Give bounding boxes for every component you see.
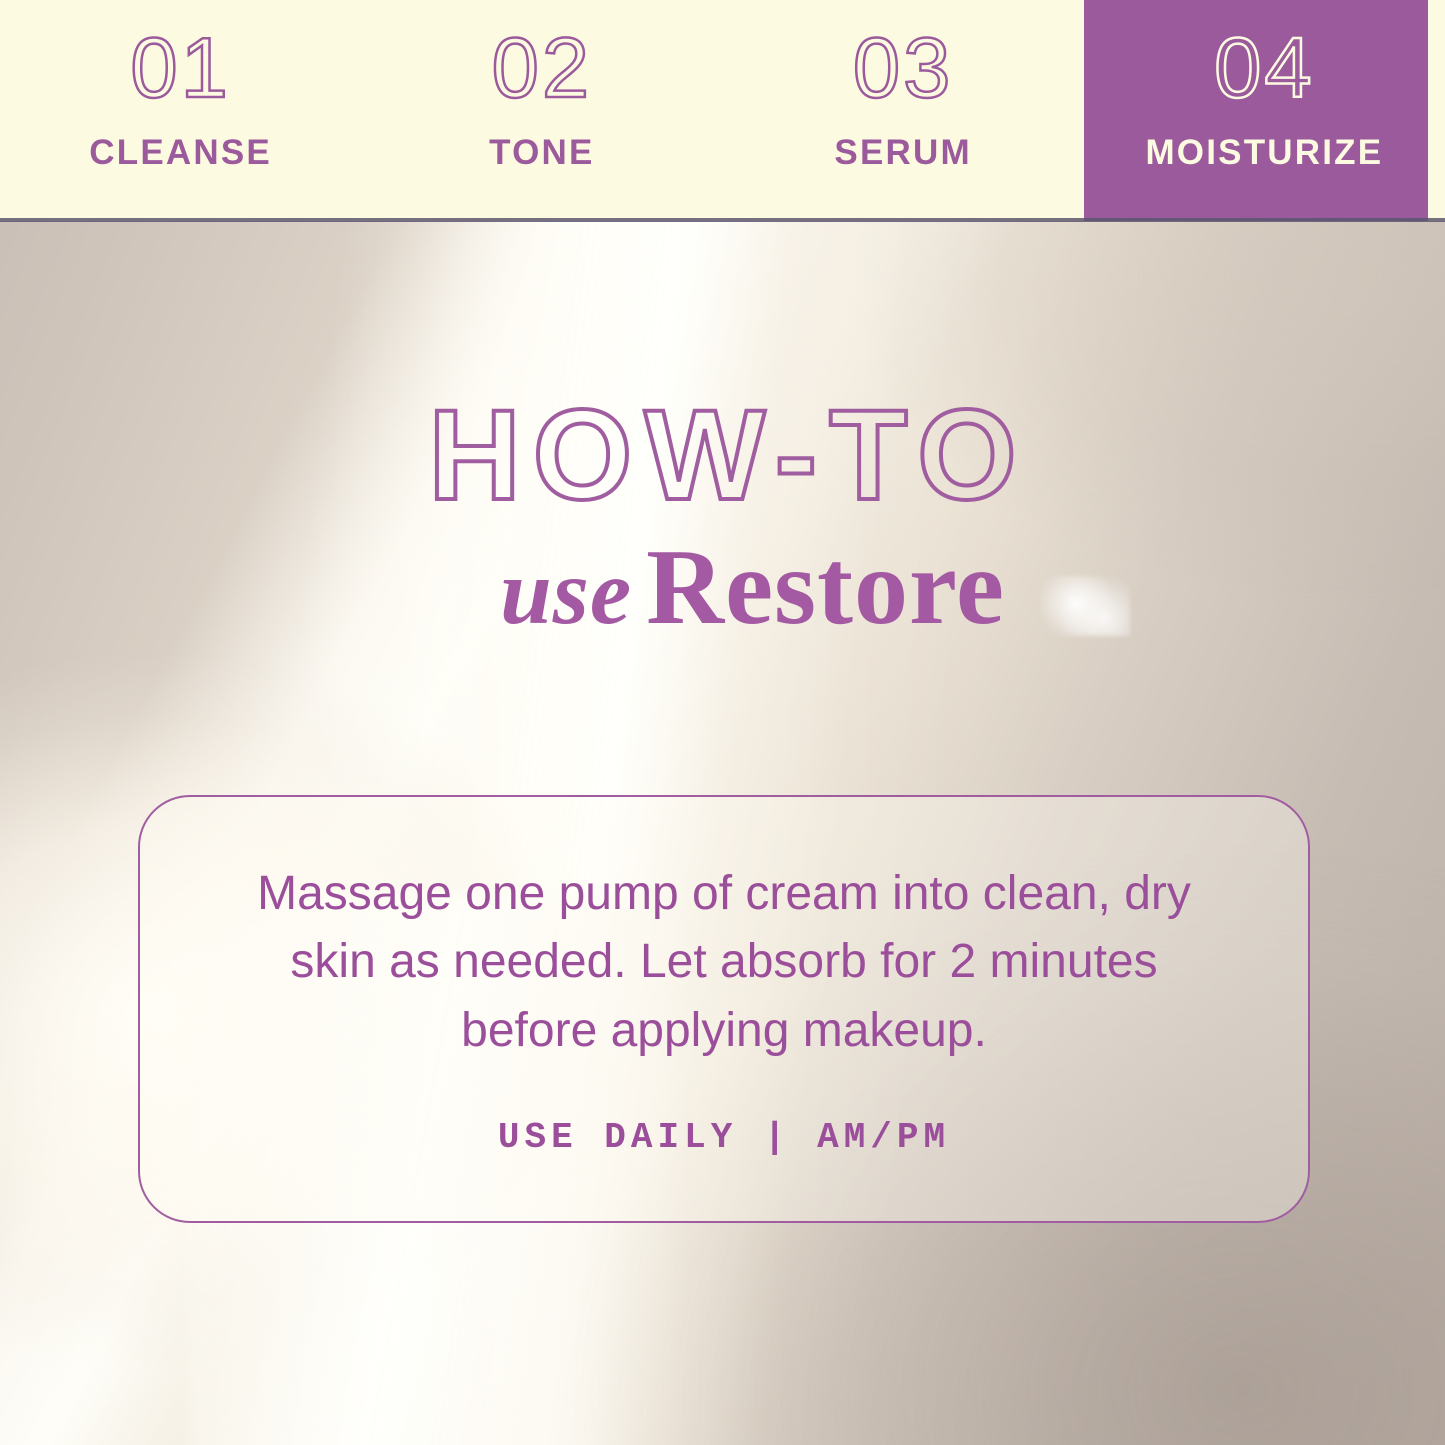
step-item-serum[interactable]: 03 SERUM <box>723 0 1084 221</box>
step-item-moisturize[interactable]: 04 MOISTURIZE <box>1084 0 1445 221</box>
usage-frequency-note: USE DAILY | AM/PM <box>498 1117 950 1158</box>
page-subtitle: useRestore <box>0 534 1445 642</box>
step-number: 01 <box>130 26 231 111</box>
step-item-cleanse[interactable]: 01 CLEANSE <box>0 0 361 221</box>
step-number: 04 <box>1214 26 1315 111</box>
step-label: MOISTURIZE <box>1145 133 1383 173</box>
header-divider <box>0 218 1445 222</box>
step-item-tone[interactable]: 02 TONE <box>361 0 722 221</box>
routine-step-nav: 01 CLEANSE 02 TONE 03 SERUM 04 MOISTURIZ… <box>0 0 1445 221</box>
step-number: 03 <box>853 26 954 111</box>
step-label: SERUM <box>834 133 971 173</box>
subtitle-product-name: Restore <box>646 528 1005 647</box>
subtitle-italic-word: use <box>500 541 632 644</box>
step-label: TONE <box>489 133 594 173</box>
page-title: HOW-TO <box>0 392 1445 520</box>
instruction-text: Massage one pump of cream into clean, dr… <box>194 860 1254 1064</box>
step-number: 02 <box>492 26 593 111</box>
step-label: CLEANSE <box>89 133 272 173</box>
infographic-canvas: 01 CLEANSE 02 TONE 03 SERUM 04 MOISTURIZ… <box>0 0 1445 1445</box>
title-block: HOW-TO useRestore <box>0 392 1445 642</box>
instruction-card: Massage one pump of cream into clean, dr… <box>138 795 1310 1223</box>
